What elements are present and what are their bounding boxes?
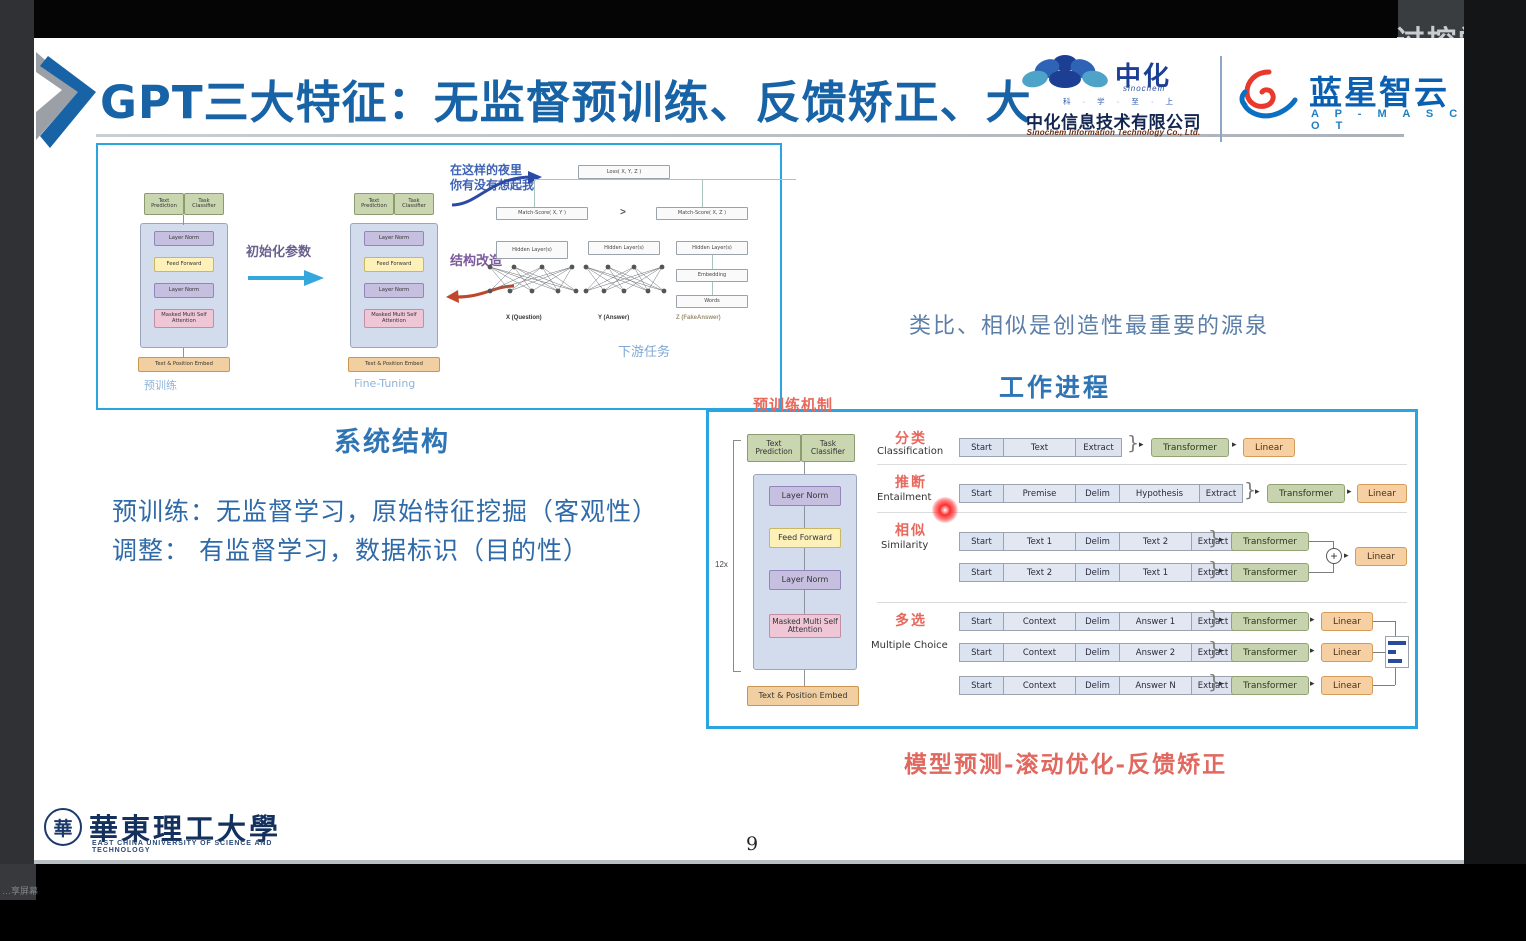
tf-layer-norm-block-2: Layer Norm [364,283,424,298]
token-row-classification: Start Text Extract [959,438,1122,457]
sinochem-brand-en: sinochem [1123,84,1165,93]
finetune-transformer-stack: Text Prediction Task Classifier Layer No… [338,193,448,363]
task-separator [877,602,1407,603]
token-cell: Delim [1075,563,1119,582]
transformer-block: Transformer [1231,532,1309,551]
mn-net-left-icon [480,263,590,311]
token-cell: Start [959,484,1003,503]
university-name-en: EAST CHINA UNIVERSITY OF SCIENCE AND TEC… [92,840,304,854]
gpt-task-classifier-block: Task Classifier [801,434,855,462]
token-cell: Text 2 [1119,532,1191,551]
tf-layer-norm-block-1: Layer Norm [154,231,214,246]
row-arrow-icon: ▸ [1219,565,1224,576]
tf-attention-block: Masked Multi Self Attention [154,309,214,328]
token-row-similarity-2: Start Text 2 Delim Text 1 Extract [959,563,1235,582]
sinochem-company-en: Sinochem Information Technology Co., Ltd… [1011,128,1216,137]
task-separator [877,464,1407,465]
linear-block: Linear [1355,547,1407,566]
token-cell: Text 1 [1003,532,1075,551]
tf-attention-block: Masked Multi Self Attention [364,309,424,328]
token-row-entailment: Start Premise Delim Hypothesis Extract [959,484,1243,503]
conference-topbar [0,0,1526,38]
tf-feed-forward-block: Feed Forward [364,257,424,272]
tf-text-prediction-block: Text Prediction [144,193,184,215]
token-row-choice-2: Start Context Delim Answer 2 Extract [959,643,1235,662]
token-cell: Start [959,643,1003,662]
mn-caption-z: Z (FakeAnswer) [676,315,721,321]
task-label-cn-classification: 分类 [895,428,927,448]
gpt-layer-norm-2: Layer Norm [769,570,841,590]
right-heading-text: 工作进程 [999,368,1111,404]
tf-connector [183,348,184,358]
tf-embed-block: Text & Position Embed [348,357,440,372]
token-row-similarity-1: Start Text 1 Delim Text 2 Extract [959,532,1235,551]
university-logo: 華 華東理工大學 EAST CHINA UNIVERSITY OF SCIENC… [44,804,304,854]
tf-text-prediction-block: Text Prediction [354,193,394,215]
token-cell: Delim [1075,643,1119,662]
token-cell: Premise [1003,484,1075,503]
share-status-label: …享屏幕 [2,884,38,897]
transformer-block: Transformer [1231,612,1309,631]
transformer-block: Transformer [1267,484,1345,503]
linear-block: Linear [1321,643,1373,662]
architecture-diagram-panel: Text Prediction Task Classifier Layer No… [96,143,782,410]
row-arrow-icon: ▸ [1310,678,1315,689]
token-cell: Answer 2 [1119,643,1191,662]
mn-net-right-icon [576,263,676,311]
token-cell: Context [1003,643,1075,662]
token-cell: Answer N [1119,676,1191,695]
task-label-en-similarity: Similarity [881,540,928,551]
row-arrow-icon: ▸ [1219,534,1224,545]
task-label-cn-entailment: 推断 [895,472,927,492]
downstream-task-label: 下游任务 [618,341,670,360]
gpt-repeat-bracket [733,440,741,672]
token-row-choice-n: Start Context Delim Answer N Extract [959,676,1235,695]
task-label-cn-similarity: 相似 [895,520,927,540]
row-brace: } [1127,434,1139,453]
tf-connector [183,215,184,225]
token-cell: Context [1003,676,1075,695]
task-label-en-classification: Classification [877,446,943,457]
token-cell: Answer 1 [1119,612,1191,631]
presentation-slide: GPT三大特征：无监督预训练、反馈矫正、大 中化 sinochem 科 · 学 … [34,38,1464,864]
row-arrow-icon: ▸ [1344,550,1349,561]
gpt-panel-title: 预训练机制 [753,394,833,415]
linear-block: Linear [1321,676,1373,695]
linear-block: Linear [1321,612,1373,631]
row-arrow-icon: ▸ [1255,486,1260,497]
conference-right-rail [1464,0,1526,941]
row-arrow-icon: ▸ [1139,439,1144,450]
row-arrow-icon: ▸ [1219,678,1224,689]
row-arrow-icon: ▸ [1232,439,1237,450]
token-cell: Context [1003,612,1075,631]
mascot-brand-cn: 蓝星智云 [1309,66,1449,114]
gpt-repeat-label: 12x [715,560,728,569]
row-arrow-icon: ▸ [1219,614,1224,625]
tf-feed-forward-block: Feed Forward [154,257,214,272]
mascot-brand-en: A P - M A S C O T [1311,108,1464,132]
gpt-layer-norm-1: Layer Norm [769,486,841,506]
mn-score-right-box: Match-Score( X, Z ) [656,207,748,220]
conference-left-rail [0,0,34,941]
token-cell: Delim [1075,612,1119,631]
body-text-block: 预训练：无监督学习，原始特征挖掘（客观性） 调整： 有监督学习，数据标识（目的性… [112,493,658,571]
tf-embed-block: Text & Position Embed [138,357,230,372]
token-cell: Delim [1075,676,1119,695]
logo-divider [1220,56,1222,142]
pretrain-stack-label: 预训练 [144,377,177,393]
token-cell: Text 1 [1119,563,1191,582]
token-cell: Start [959,532,1003,551]
init-params-annotation: 初始化参数 [246,245,311,261]
token-cell: Start [959,612,1003,631]
gpt-feed-forward: Feed Forward [769,528,841,548]
tf-task-classifier-block: Task Classifier [184,193,224,215]
init-params-arrow-icon [248,267,326,289]
token-cell: Start [959,676,1003,695]
laser-pointer-dot [932,497,958,523]
token-cell: Hypothesis [1119,484,1199,503]
mn-hidden-layer-3: Hidden Layer(s) [676,241,748,255]
right-quote-text: 类比、相似是创造性最重要的源泉 [909,308,1269,340]
token-cell: Extract [1075,438,1122,457]
token-cell: Extract [1199,484,1243,503]
token-cell: Delim [1075,532,1119,551]
slide-bottom-rule [34,860,1464,864]
finetune-stack-label: Fine-Tuning [354,377,415,390]
mn-hidden-layer-1: Hidden Layer(s) [496,241,568,259]
row-arrow-icon: ▸ [1219,645,1224,656]
page-title: GPT三大特征：无监督预训练、反馈矫正、大 [100,66,1032,131]
lotus-icon [1019,54,1111,90]
task-label-en-multiple-choice: Multiple Choice [871,640,948,651]
page-number: 9 [746,833,758,855]
tf-layer-norm-block-1: Layer Norm [364,231,424,246]
transformer-block: Transformer [1231,676,1309,695]
mn-hidden-layer-2: Hidden Layer(s) [588,241,660,255]
transformer-block: Transformer [1231,643,1309,662]
sinochem-logo: 中化 sinochem 科 · 学 · 至 · 上 中化信息技术有限公司 Sin… [1011,54,1216,142]
transformer-block: Transformer [1231,563,1309,582]
conference-bottom-bar [0,864,1526,941]
gpt-embed: Text & Position Embed [747,686,859,706]
mascot-logo: 蓝星智云 A P - M A S C O T [1239,64,1464,140]
row-arrow-icon: ▸ [1310,614,1315,625]
task-label-en-entailment: Entailment [877,492,931,503]
mn-loss-box: Loss( X, Y, Z ) [578,165,670,179]
row-arrow-icon: ▸ [1347,486,1352,497]
body-line-1: 预训练：无监督学习，原始特征挖掘（客观性） [112,493,658,532]
mn-caption-x: X (Question) [506,315,542,321]
bottom-red-caption: 模型预测-滚动优化-反馈矫正 [904,745,1227,779]
tf-task-classifier-block: Task Classifier [394,193,434,215]
sum-operator-icon: + [1326,548,1342,564]
token-row-choice-1: Start Context Delim Answer 1 Extract [959,612,1235,631]
token-cell: Text [1003,438,1075,457]
tf-layer-norm-block-2: Layer Norm [154,283,214,298]
linear-block: Linear [1243,438,1295,457]
pretrain-transformer-stack: Text Prediction Task Classifier Layer No… [128,193,238,363]
poem-arrow-icon [450,167,560,211]
token-cell: Delim [1075,484,1119,503]
token-cell: Text 2 [1003,563,1075,582]
transformer-block: Transformer [1151,438,1229,457]
task-label-cn-multiple-choice: 多选 [895,610,927,630]
screen-share-view: 过控学死 …享屏幕 GPT三大特征：无监督预训练、反馈矫正、大 中化 [0,0,1526,941]
row-arrow-icon: ▸ [1310,645,1315,656]
mn-compare-symbol: > [620,207,626,218]
sinochem-motto: 科 · 学 · 至 · 上 [1063,96,1178,107]
mn-embedding-box: Embedding [676,269,748,282]
body-line-2: 调整： 有监督学习，数据标识（目的性） [112,532,658,571]
swirl-icon [1239,66,1301,122]
mn-score-left-box: Match-Score( X, Y ) [496,207,588,220]
university-seal-icon: 華 [44,808,82,846]
gpt-attention: Masked Multi Self Attention [769,614,841,638]
system-structure-caption: 系统结构 [334,420,450,459]
mn-words-box: Words [676,295,748,308]
gpt-text-prediction-block: Text Prediction [747,434,801,462]
token-cell: Start [959,438,1003,457]
university-seal-glyph: 華 [53,814,72,841]
gpt-transformer-stack: Text Prediction Task Classifier Layer No… [747,434,867,704]
token-cell: Start [959,563,1003,582]
mn-caption-y: Y (Answer) [598,315,629,321]
score-bars-icon [1385,636,1409,668]
linear-block: Linear [1357,484,1407,503]
gpt-task-panel: 预训练机制 12x Text Prediction Task Classifie… [706,409,1418,729]
